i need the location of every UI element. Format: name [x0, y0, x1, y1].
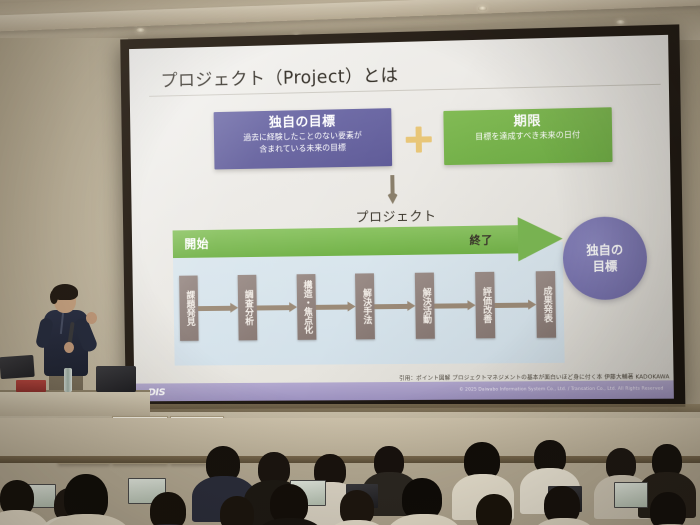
projection-screen: プロジェクト（Project）とは 独自の目標 過去に経験したことのない要素が … [120, 24, 685, 409]
process-step: 評価改善 [475, 272, 495, 339]
downlight-icon [136, 28, 145, 33]
timeline-arrow: 開始 終了 [173, 224, 563, 258]
shoulders [0, 510, 50, 525]
slide-footer-bar: DIS © 2025 Daiwabo Information System Co… [134, 380, 674, 401]
water-bottle [64, 368, 72, 392]
presentation-slide: プロジェクト（Project）とは 独自の目標 過去に経験したことのない要素が … [129, 35, 674, 401]
head [476, 494, 512, 525]
process-step: 解決活動 [415, 273, 435, 339]
process-step: 解決手法 [355, 273, 375, 339]
presenter-monitor [96, 366, 136, 392]
box-subtext-line2: 含まれている未来の目標 [214, 142, 392, 156]
step-arrow-icon [435, 300, 476, 310]
audience [0, 440, 700, 525]
copyright-text: © 2025 Daiwabo Information System Co., L… [459, 387, 663, 393]
process-step: 構造・焦点化 [296, 274, 316, 340]
plus-icon [406, 126, 432, 153]
timeline-end-label: 終了 [469, 232, 493, 248]
presenter-right-hand [86, 312, 97, 324]
dis-logo: DIS [148, 387, 165, 398]
downlight-icon [478, 6, 487, 11]
podium-desk [0, 390, 150, 416]
presenter-left-hand [64, 342, 74, 353]
goal-circle-line1: 独自の [586, 243, 623, 258]
result-label: プロジェクト [341, 205, 451, 226]
down-arrow-icon [385, 175, 399, 205]
goal-circle: 独自の 目標 [562, 216, 647, 300]
box-subtext-line1: 目標を達成すべき未来の日付 [444, 130, 613, 144]
red-book [16, 380, 46, 392]
process-step: 調査分析 [237, 275, 257, 341]
step-arrow-icon [315, 301, 356, 311]
step-arrow-icon [495, 300, 537, 311]
lecture-hall-scene: プロジェクト（Project）とは 独自の目標 過去に経験したことのない要素が … [0, 0, 700, 525]
timeline-start-label: 開始 [184, 235, 209, 252]
step-arrow-icon [257, 302, 297, 312]
process-step: 課題発見 [179, 276, 199, 341]
process-step: 成果発表 [536, 271, 556, 338]
step-arrow-icon [198, 303, 238, 313]
shoulders [530, 518, 598, 525]
head [150, 492, 186, 525]
step-arrow-icon [375, 301, 416, 311]
concept-box-unique-goal: 独自の目標 過去に経験したことのない要素が 含まれている未来の目標 [214, 108, 393, 169]
presenter-hair [52, 284, 78, 300]
downlight-icon [616, 20, 625, 25]
process-step-list: 課題発見 調査分析 構造・焦点化 解決手法 解決活動 評価改善 成果発表 [179, 266, 556, 346]
goal-circle-line2: 目標 [593, 259, 618, 273]
head [650, 492, 686, 525]
slide-title: プロジェクト（Project）とは [160, 62, 398, 93]
presenter-laptop [0, 355, 35, 379]
audience-laptop [614, 482, 648, 508]
head [220, 496, 254, 525]
concept-box-deadline: 期限 目標を達成すべき未来の日付 [443, 107, 612, 165]
